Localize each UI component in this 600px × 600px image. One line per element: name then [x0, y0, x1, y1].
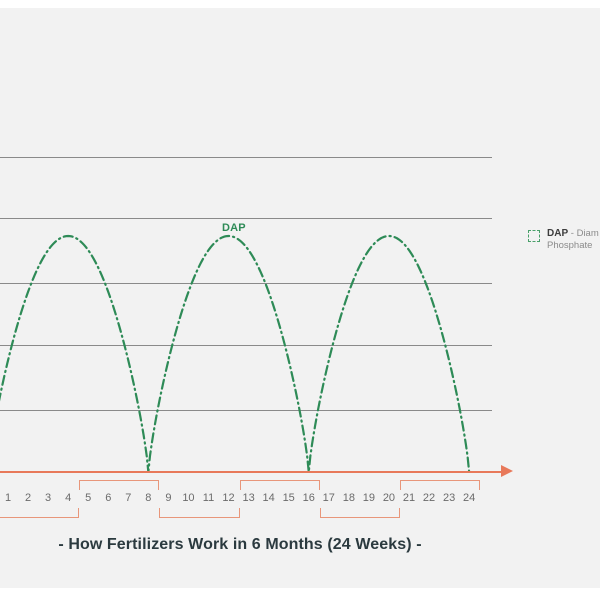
month-bracket	[0, 508, 79, 518]
week-label: 12	[218, 491, 240, 505]
week-label: 13	[238, 491, 260, 505]
screenshot-canvas: DAP 123456789101112131415161718192021222…	[0, 0, 600, 600]
week-label: 24	[458, 491, 480, 505]
week-label: 6	[97, 491, 119, 505]
month-bracket	[400, 480, 480, 490]
week-label: 10	[177, 491, 199, 505]
week-label: 2	[17, 491, 39, 505]
dashed-square-icon	[528, 230, 540, 242]
x-axis-line	[0, 471, 505, 473]
week-label: 11	[198, 491, 220, 505]
week-label: 16	[298, 491, 320, 505]
dap-inline-label: DAP	[222, 222, 246, 234]
legend-item-line2: Phosphate	[547, 240, 599, 252]
legend-item-dap: DAP - Diam Phosphate	[547, 228, 599, 252]
month-bracket	[159, 508, 239, 518]
week-label: 3	[37, 491, 59, 505]
week-label: 21	[398, 491, 420, 505]
legend-abbr: DAP	[547, 228, 568, 239]
week-label: 7	[117, 491, 139, 505]
week-label: 4	[57, 491, 79, 505]
dap-curve-path	[0, 236, 469, 472]
arrow-right-icon	[501, 465, 513, 477]
legend-dash: -	[568, 228, 576, 239]
week-label: 9	[157, 491, 179, 505]
month-bracket	[240, 480, 320, 490]
slide-background: DAP 123456789101112131415161718192021222…	[0, 8, 600, 588]
week-label: 20	[378, 491, 400, 505]
chart-plot-area: DAP 123456789101112131415161718192021222…	[0, 8, 600, 588]
chart-legend: DAP - Diam Phosphate	[528, 228, 600, 252]
week-label: 23	[438, 491, 460, 505]
week-label: 22	[418, 491, 440, 505]
week-label: 15	[278, 491, 300, 505]
week-label: 14	[258, 491, 280, 505]
chart-title: - How Fertilizers Work in 6 Months (24 W…	[0, 536, 480, 554]
month-bracket	[79, 480, 159, 490]
week-label: 19	[358, 491, 380, 505]
week-label: 18	[338, 491, 360, 505]
week-label: 17	[318, 491, 340, 505]
week-label: 8	[137, 491, 159, 505]
legend-expansion-part1: Diam	[577, 228, 599, 239]
month-bracket	[320, 508, 400, 518]
legend-item-line1: DAP - Diam	[547, 228, 599, 240]
week-label: 5	[77, 491, 99, 505]
